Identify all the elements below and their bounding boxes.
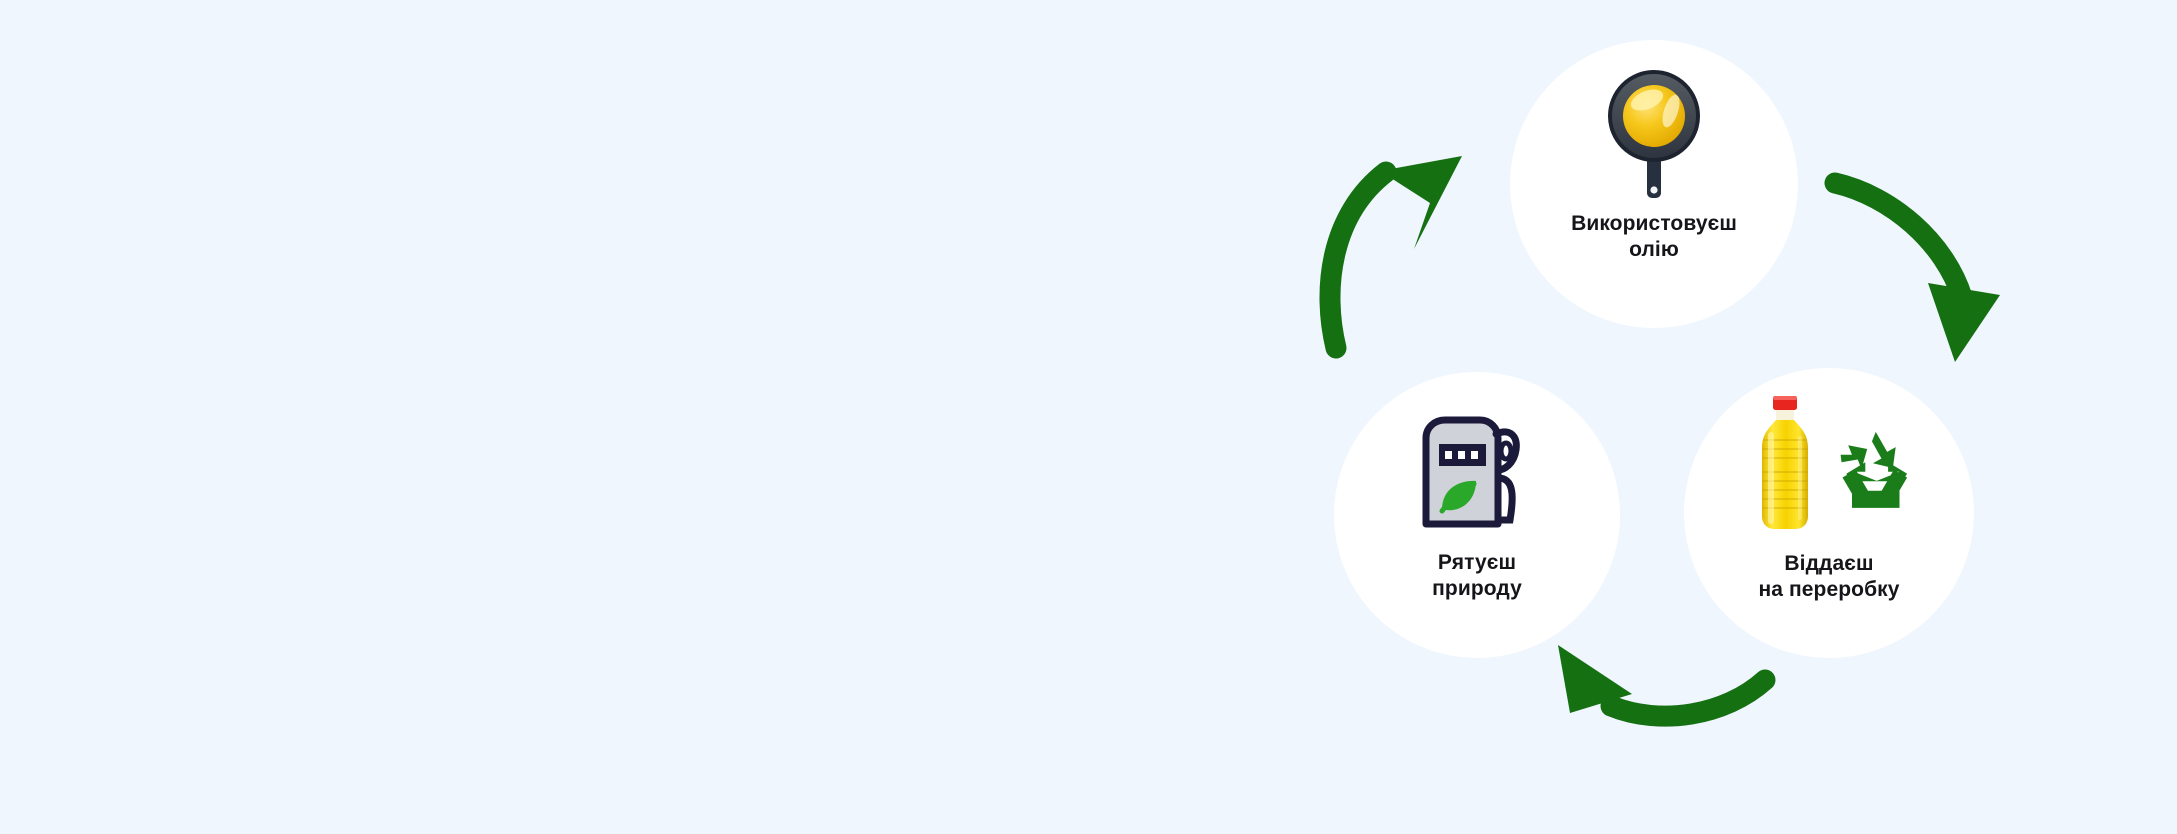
frying-pan-icon bbox=[1589, 66, 1719, 201]
curved-arrow-down-right-icon bbox=[1835, 183, 2000, 362]
oil-bottle-recycle-icon bbox=[1729, 392, 1929, 537]
cycle-step-recycle[interactable]: Віддаєш на переробку bbox=[1684, 368, 1974, 658]
cycle-step-label: Рятуєш природу bbox=[1432, 550, 1522, 602]
cycle-step-save-nature[interactable]: Рятуєш природу bbox=[1334, 372, 1620, 658]
oil-recycling-cycle-diagram: Використовуєш олію bbox=[0, 0, 2177, 834]
biofuel-pump-icon bbox=[1418, 412, 1536, 532]
cycle-step-use-oil[interactable]: Використовуєш олію bbox=[1510, 40, 1798, 328]
cycle-step-label: Використовуєш олію bbox=[1571, 211, 1737, 263]
curved-arrow-left-icon bbox=[1558, 645, 1765, 716]
cycle-step-label: Віддаєш на переробку bbox=[1758, 551, 1899, 603]
oil-bottle-glyph bbox=[1762, 396, 1808, 529]
recycle-symbol-icon bbox=[1841, 432, 1908, 508]
curved-arrow-up-right-icon bbox=[1330, 156, 1462, 348]
